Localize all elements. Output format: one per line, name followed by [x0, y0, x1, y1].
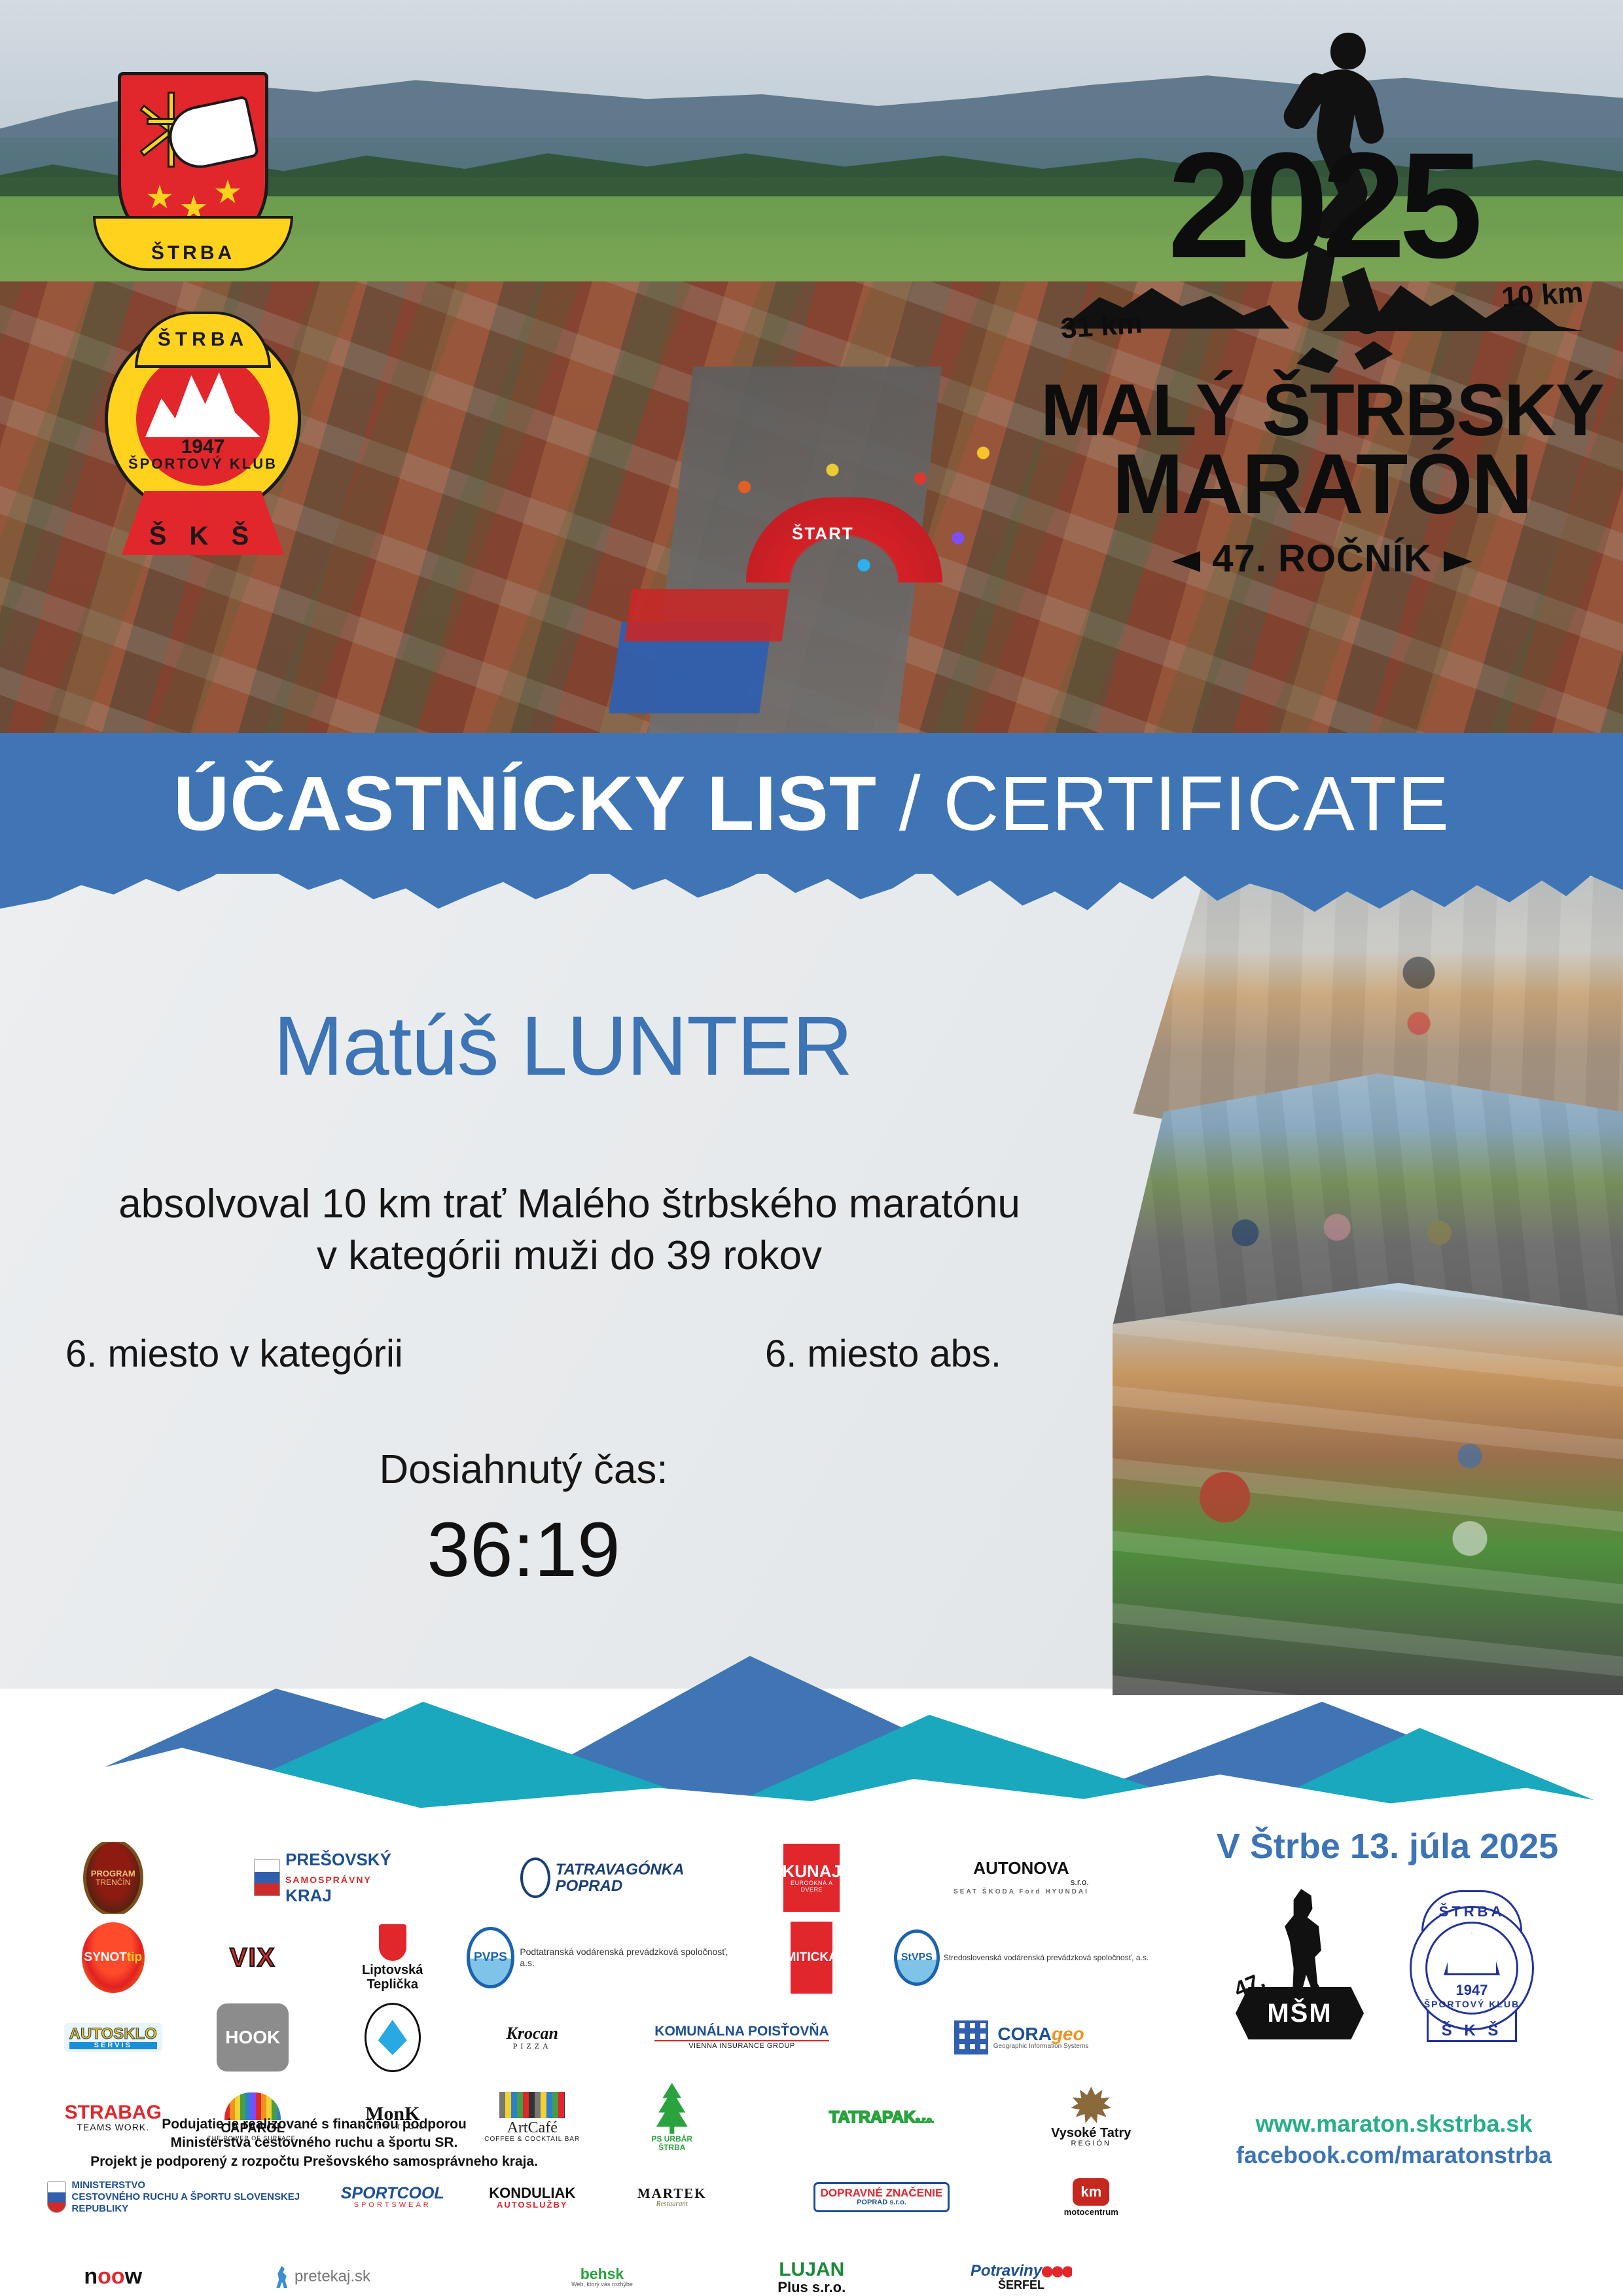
presov-flag-icon	[254, 1859, 280, 1896]
contact-links: www.maraton.skstrba.sk facebook.com/mara…	[1171, 2110, 1616, 2169]
issue-date: V Štrbe 13. júla 2025	[1171, 1826, 1603, 1867]
sponsor-vix: VIX	[186, 1922, 321, 1994]
sponsor-komunalna-poistovna: KOMUNÁLNA POISŤOVŇA VIENNA INSURANCE GRO…	[605, 2001, 879, 2073]
stamp-base-label: Š K Š	[1427, 2011, 1517, 2042]
sponsor-presovsky-kraj: PREŠOVSKÝ SAMOSPRÁVNY KRAJ	[186, 1842, 460, 1914]
msm-runner-icon	[1272, 1889, 1335, 1999]
sponsor-pvps: PVPS Podtatranská vodárenská prevádzková…	[465, 1922, 740, 1994]
footer: PROGRAM TRENČÍN PREŠOVSKÝ SAMOSPRÁVNY KR…	[0, 1820, 1623, 2296]
sponsor-lujan-plus: LUJAN Plus s.r.o.	[745, 2241, 880, 2296]
msm-logo-icon: 47. MŠM	[1234, 1889, 1365, 2039]
website-url[interactable]: www.maraton.skstrba.sk	[1171, 2110, 1616, 2138]
banner-title-bold: ÚČASTNÍCKY LIST	[173, 761, 877, 847]
description-line-1: absolvoval 10 km trať Malého štrbského m…	[39, 1178, 1099, 1230]
footer-right-block: V Štrbe 13. júla 2025 47. MŠM ŠTRBA 1947…	[1171, 1826, 1603, 2039]
strba-municipal-crest-icon: ŠTRBA	[118, 72, 268, 255]
sponsor-dopravne-znacenie: DOPRAVNÉ ZNAČENIE POPRAD s.r.o.	[745, 2161, 1019, 2233]
sponsor-km-motocentrum: km motocentrum	[1024, 2161, 1159, 2233]
sks-club-logo-icon: ŠTRBA 1947 ŠPORTOVÝ KLUB Š K Š	[105, 295, 301, 556]
sponsor-stvps: StVPS Stredoslovenská vodárenská prevádz…	[884, 1922, 1158, 1994]
sponsor-corageo: CORAgeo Geographic Information Systems	[884, 2001, 1158, 2073]
funding-note: Podujatie je realizované s finančnou pod…	[39, 2115, 589, 2171]
facebook-url[interactable]: facebook.com/maratonstrba	[1171, 2142, 1616, 2169]
autosklo-icon: AUTOSKLO SERVIS	[64, 2023, 162, 2053]
stamp-arc-label: ŠPORTOVÝ KLUB	[1403, 1999, 1541, 2009]
place-in-category: 6. miesto v kategórii	[52, 1332, 403, 1376]
sponsor-konduliak: KONDULIAK AUTOSLUŽBY	[465, 2161, 600, 2233]
sponsor-liptovska-teplicka: Liptovská Teplička	[325, 1922, 460, 1994]
sponsor-beh-sk: behsk Web, ktorý vás rozhýbe	[465, 2241, 740, 2296]
sponsor-autosklo-servis: AUTOSKLO SERVIS	[46, 2001, 181, 2073]
race-year: 2025	[1047, 144, 1597, 268]
description-line-2: v kategórii muži do 39 rokov	[39, 1230, 1099, 1282]
triangle-right-icon	[1444, 551, 1472, 572]
sponsor-tatravagonka-poprad: TATRAVAGÓNKA POPRAD	[465, 1842, 740, 1914]
stamp-year-label: 1947	[1403, 1982, 1541, 1999]
race-title-line1: MALÝ ŠTRBSKÝ	[1034, 376, 1610, 444]
pvps-badge-icon: PVPS	[467, 1927, 515, 1988]
sponsor-krocan-pizza: Krocan PIZZA	[465, 2001, 600, 2073]
slovak-emblem-icon	[47, 2181, 66, 2213]
photo-collage	[1113, 877, 1623, 1695]
sponsor-sportcool: SPORTCOOL SPORTSWEAR	[325, 2161, 460, 2233]
race-edition-label: 47. ROČNÍK	[1212, 537, 1432, 580]
sponsor-autonova: AUTONOVA s.r.o. SEAT ŠKODA Ford HYUNDAI	[884, 1842, 1158, 1914]
sponsor-pretekaj-sk: pretekaj.sk	[186, 2241, 460, 2296]
liptovska-crest-icon	[379, 1924, 406, 1961]
sks-club-stamp-icon: ŠTRBA 1947 ŠPORTOVÝ KLUB Š K Š	[1403, 1889, 1541, 2039]
banner-title-light: / CERTIFICATE	[877, 761, 1450, 847]
triangle-left-icon	[1171, 551, 1200, 572]
sks-year-label: 1947	[105, 436, 301, 458]
sponsor-noow: noow	[46, 2241, 181, 2296]
place-absolute: 6. miesto abs.	[765, 1332, 1086, 1376]
sponsor-ministerstvo: MINISTERSTVO CESTOVNÉHO RUCHU A ŠPORTU S…	[46, 2161, 320, 2233]
sponsor-pd-strba	[325, 2001, 460, 2073]
funding-note-line-2: Ministerstva cestovného ruchu a športu S…	[39, 2134, 589, 2152]
miticka-block-icon: MITICKÁ	[791, 1922, 832, 1994]
sponsor-martek: MARTEK Restaurant	[605, 2161, 740, 2233]
race-title-line2: MARATÓN	[1034, 445, 1610, 524]
sponsor-vysoke-tatry: Vysoké Tatry REGIÓN	[1024, 2081, 1159, 2153]
sks-base-label: Š K Š	[149, 522, 257, 555]
sponsor-miticka: MITICKÁ	[745, 1922, 880, 1994]
distance-left: 31 km	[1060, 307, 1143, 346]
msm-abbr: MŠM	[1236, 1987, 1364, 2039]
sks-top-arc: ŠTRBA	[135, 312, 271, 368]
participant-name: Matúš LUNTER	[39, 998, 1086, 1094]
mountain-divider	[0, 1617, 1623, 1839]
vysoke-tatry-chamois-icon	[1071, 2087, 1111, 2125]
tatravagonka-mark-icon	[520, 1857, 550, 1898]
start-arch-label: ŠTART	[792, 524, 854, 544]
kunaj-block-icon: KUNAJ EUROOKNÁ A DVERE	[783, 1844, 840, 1912]
artcafe-stripes-icon	[499, 2092, 565, 2118]
race-title-block: 2025 31 km 10 km MALÝ ŠTRBSKÝ MARATÓN 47…	[1034, 20, 1610, 596]
sponsor-ps-urbar-strba: PS URBÁR ŠTRBA	[605, 2081, 740, 2153]
certificate-title-banner: ÚČASTNÍCKY LIST / CERTIFICATE	[0, 733, 1623, 874]
placement-row: 6. miesto v kategórii 6. miesto abs.	[52, 1332, 1086, 1376]
corageo-grid-icon	[954, 2020, 988, 2054]
sponsor-potraviny-serfel: Potraviny ŠERFEL	[884, 2241, 1158, 2296]
header-aerial-photo: ŠTART ŠTRBA ŠTRBA 1947 ŠPORTOVÝ KLUB	[0, 0, 1623, 785]
banner-title: ÚČASTNÍCKY LIST / CERTIFICATE	[173, 759, 1450, 848]
synot-oval-icon: SYNOTtip	[82, 1922, 145, 1993]
sponsor-tatrapak: TATRAPAKs.r.o.	[745, 2081, 1019, 2153]
crest-label: ŠTRBA	[151, 242, 235, 268]
red-tent	[624, 589, 789, 641]
program-seal-icon: PROGRAM TRENČÍN	[83, 1842, 143, 1914]
serfel-dots-icon	[1042, 2266, 1072, 2278]
sks-arc-label: ŠPORTOVÝ KLUB	[105, 456, 301, 473]
footer-logos: 47. MŠM ŠTRBA 1947 ŠPORTOVÝ KLUB Š K Š	[1171, 1889, 1603, 2039]
funding-note-line-3: Projekt je podporený z rozpočtu Prešovsk…	[39, 2153, 589, 2171]
crest-ribbon: ŠTRBA	[93, 216, 293, 271]
certificate-description: absolvoval 10 km trať Malého štrbského m…	[39, 1178, 1099, 1282]
pretekaj-runner-icon	[275, 2266, 291, 2288]
sks-base: Š K Š	[122, 491, 284, 555]
sponsor-logo-grid: PROGRAM TRENČÍN PREŠOVSKÝ SAMOSPRÁVNY KR…	[46, 1839, 1158, 2296]
time-value: 36:19	[39, 1505, 1008, 1594]
certificate-page: ŠTART ŠTRBA ŠTRBA 1947 ŠPORTOVÝ KLUB	[0, 0, 1623, 2296]
race-edition: 47. ROČNÍK	[1034, 537, 1610, 581]
distance-right: 10 km	[1501, 276, 1584, 315]
time-label: Dosiahnutý čas:	[39, 1446, 1008, 1493]
sponsor-kunaj: KUNAJ EUROOKNÁ A DVERE	[745, 1842, 880, 1914]
stamp-top-label: ŠTRBA	[1421, 1890, 1522, 1931]
funding-note-line-1: Podujatie je realizované s finančnou pod…	[39, 2115, 589, 2134]
stvps-badge-icon: StVPS	[894, 1929, 940, 1986]
sponsor-hook: HOOK	[186, 2001, 321, 2073]
pd-strba-seal-icon	[365, 2003, 421, 2072]
sponsor-synot-tip: SYNOTtip	[46, 1922, 181, 1994]
sks-top-label: ŠTRBA	[158, 329, 248, 351]
urbar-tree-icon	[652, 2083, 692, 2134]
hook-icon: HOOK	[217, 2003, 289, 2072]
sponsor-program-trencin: PROGRAM TRENČÍN	[46, 1842, 181, 1914]
